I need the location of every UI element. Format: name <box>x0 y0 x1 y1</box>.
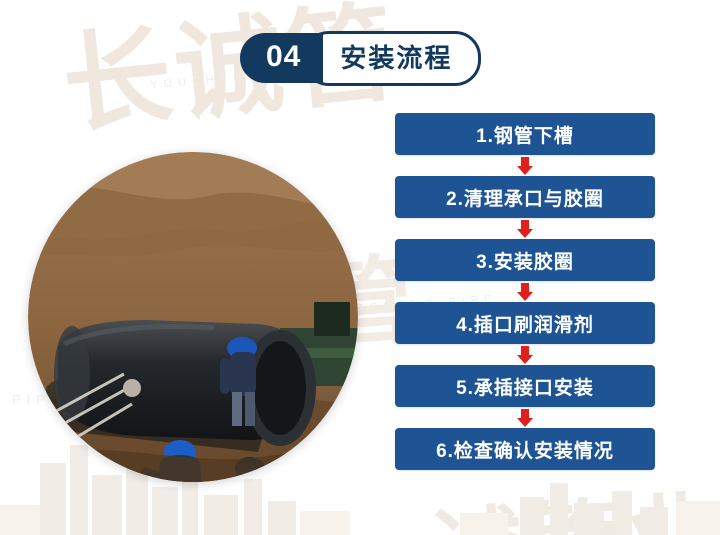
flow-step-6-label: 6.检查确认安装情况 <box>436 436 614 463</box>
page-title: 安装流程 <box>340 43 452 73</box>
watermark-brush-bottom: 诚管业 <box>426 460 720 535</box>
slide-root: 长诚管 诚管 诚管业 YOUCHENG PIPE CHANGCHENG PIPE… <box>0 0 720 535</box>
flow-step-1[interactable]: 1.钢管下槽 <box>395 113 655 155</box>
flow-step-3[interactable]: 3.安装胶圈 <box>395 239 655 281</box>
section-number: 04 <box>240 33 323 83</box>
arrow-down-icon-5 <box>395 407 655 428</box>
arrow-down-icon-1 <box>395 155 655 176</box>
arrow-down-icon-3 <box>395 281 655 302</box>
arrow-down-icon-2 <box>395 218 655 239</box>
flow-step-4-label: 4.插口刷润滑剂 <box>456 310 594 337</box>
construction-photo-image <box>28 152 358 482</box>
flow-step-1-label: 1.钢管下槽 <box>476 121 574 148</box>
flow-step-2-label: 2.清理承口与胶圈 <box>446 184 604 211</box>
flow-step-5[interactable]: 5.承插接口安装 <box>395 365 655 407</box>
header-pill: 04 安装流程 <box>240 33 481 83</box>
installation-flow-list: 1.钢管下槽 2.清理承口与胶圈 3.安装胶圈 4.插口刷润滑剂 5.承插接口安… <box>395 113 655 470</box>
worker-right <box>305 430 346 482</box>
section-title-frame: 安装流程 <box>303 31 481 86</box>
section-header: 04 安装流程 <box>240 32 481 84</box>
flow-step-5-label: 5.承插接口安装 <box>456 373 594 400</box>
construction-photo <box>28 152 358 482</box>
flow-step-2[interactable]: 2.清理承口与胶圈 <box>395 176 655 218</box>
arrow-down-icon-4 <box>395 344 655 365</box>
flow-step-4[interactable]: 4.插口刷润滑剂 <box>395 302 655 344</box>
flow-step-6[interactable]: 6.检查确认安装情况 <box>395 428 655 470</box>
flow-step-3-label: 3.安装胶圈 <box>476 247 574 274</box>
